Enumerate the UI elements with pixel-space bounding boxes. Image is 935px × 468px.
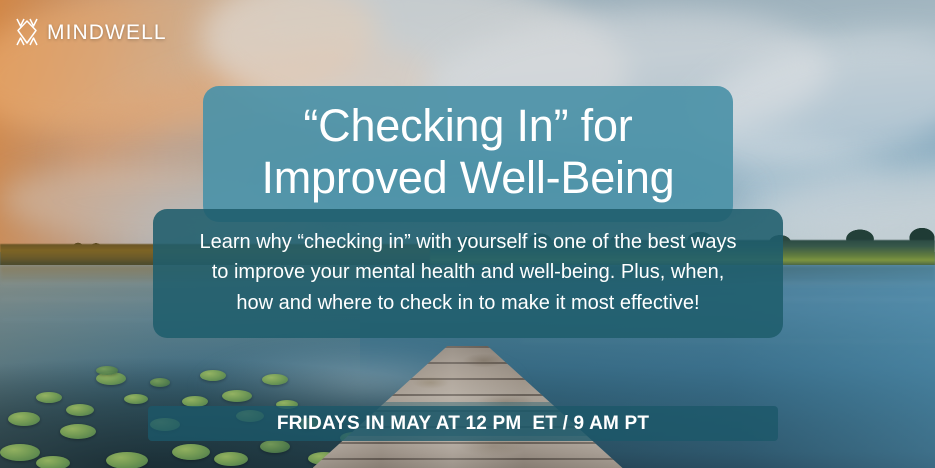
schedule-banner: FRIDAYS IN MAY AT 12 PM ET / 9 AM PT (148, 406, 778, 441)
lily-pad (36, 392, 62, 403)
description-text: Learn why “checking in” with yourself is… (177, 227, 759, 318)
schedule-text: FRIDAYS IN MAY AT 12 PM ET / 9 AM PT (277, 413, 649, 435)
lily-pad (200, 370, 226, 381)
subhead-line-1: Learn why “checking in” with yourself is… (200, 231, 737, 253)
headline-panel: “Checking In” for Improved Well-Being (203, 86, 733, 222)
lily-pad (172, 444, 210, 460)
subhead-line-2: to improve your mental health and well-b… (212, 261, 725, 283)
description-panel: Learn why “checking in” with yourself is… (153, 209, 783, 338)
page-title: “Checking In” for Improved Well-Being (223, 100, 713, 204)
lily-pad (0, 444, 40, 461)
headline-line-1: “Checking In” for (303, 100, 632, 151)
mindwell-logo[interactable]: MINDWELL (14, 16, 167, 48)
water-reflection-band (520, 340, 935, 343)
lily-pad (36, 456, 70, 468)
lily-pad (262, 374, 288, 385)
lily-pad (222, 390, 252, 402)
lily-pad (150, 378, 170, 387)
mindwell-diamond-monogram-icon (14, 16, 40, 48)
mindwell-wordmark: MINDWELL (47, 22, 167, 43)
lily-pad (106, 452, 148, 468)
lily-pad (214, 452, 248, 466)
lily-pad (60, 424, 96, 439)
webinar-promo-banner: MINDWELL “Checking In” for Improved Well… (0, 0, 935, 468)
lily-pad (260, 440, 290, 453)
lily-pad (124, 394, 148, 404)
subhead-line-3: how and where to check in to make it mos… (236, 292, 699, 314)
lily-pad (66, 404, 94, 416)
lily-pad (8, 412, 40, 426)
headline-line-2: Improved Well-Being (261, 152, 674, 203)
lily-pad (96, 366, 118, 375)
